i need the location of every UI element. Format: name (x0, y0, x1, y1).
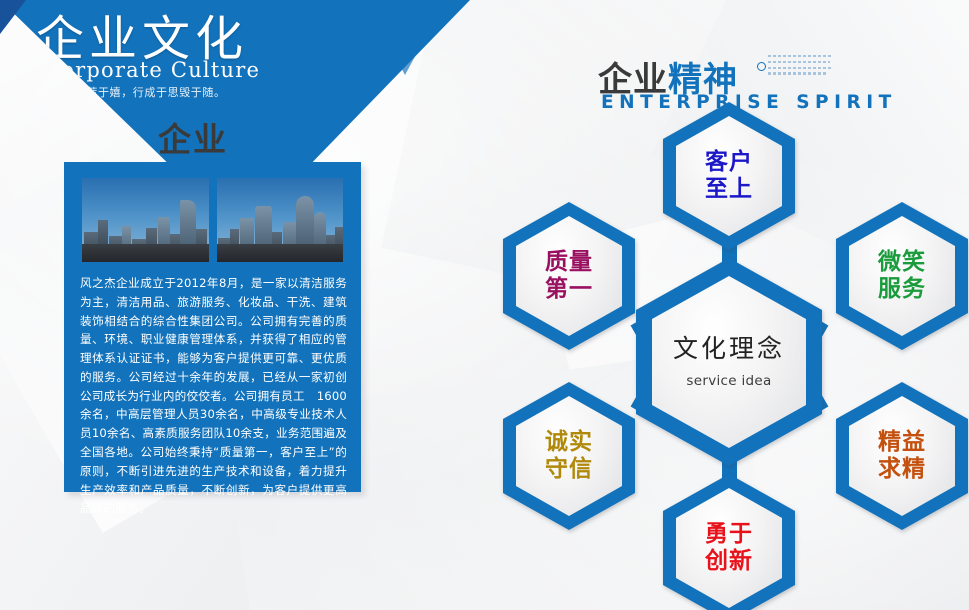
corner-notch (0, 0, 26, 34)
hex-label-line1: 微笑 (878, 249, 926, 276)
profile-heading-dark: 企业 (158, 120, 228, 159)
hex-label-line2: 守信 (545, 456, 593, 483)
hex-label-line2: 第一 (545, 276, 593, 303)
hex-node-hub-culture-idea[interactable]: 文化理念 service idea (636, 258, 822, 466)
profile-body-text: 风之杰企业成立于2012年8月，是一家以清洁服务为主，清洁用品、旅游服务、化妆品… (80, 274, 347, 518)
decorative-text-lines (768, 55, 834, 85)
profile-photo-strip (82, 178, 343, 262)
hex-node-customer-first[interactable]: 客户 至上 (663, 102, 795, 250)
hex-label-line2: 求精 (878, 456, 926, 483)
hex-node-excellence[interactable]: 精益 求精 (836, 382, 968, 530)
hex-node-integrity[interactable]: 诚实 守信 (503, 382, 635, 530)
hex-label-line1: 精益 (878, 429, 926, 456)
profile-card: 风之杰企业成立于2012年8月，是一家以清洁服务为主，清洁用品、旅游服务、化妆品… (64, 162, 361, 492)
hex-label-line1: 勇于 (705, 521, 753, 548)
hex-label-line2: 创新 (705, 548, 753, 575)
poster-canvas: 企业文化 Corporate Culture 业精于勤荒于嬉，行成于思毁于随。 … (0, 0, 969, 610)
hex-node-quality-first[interactable]: 质量 第一 (503, 202, 635, 350)
cityscape-towers-photo-2 (217, 178, 343, 262)
circle-mark-icon (757, 62, 766, 71)
hex-node-innovation[interactable]: 勇于 创新 (663, 474, 795, 610)
cityscape-skyline-photo-1 (82, 178, 209, 262)
hub-label-cn: 文化理念 (673, 334, 785, 364)
hex-node-smile-service[interactable]: 微笑 服务 (836, 202, 968, 350)
culture-hexagon-diagram: 客户 至上 微笑 服务 精益 求精 勇于 创新 (490, 110, 969, 610)
hex-label-line1: 诚实 (545, 429, 593, 456)
profile-section-heading: 企业简介 (158, 113, 298, 161)
hex-label-line1: 质量 (545, 249, 593, 276)
hub-label-en: service idea (686, 374, 771, 390)
hex-label-line2: 至上 (705, 176, 753, 203)
hex-label-line1: 客户 (705, 149, 753, 176)
profile-heading-blue: 简介 (228, 120, 298, 159)
hex-label-line2: 服务 (878, 276, 926, 303)
